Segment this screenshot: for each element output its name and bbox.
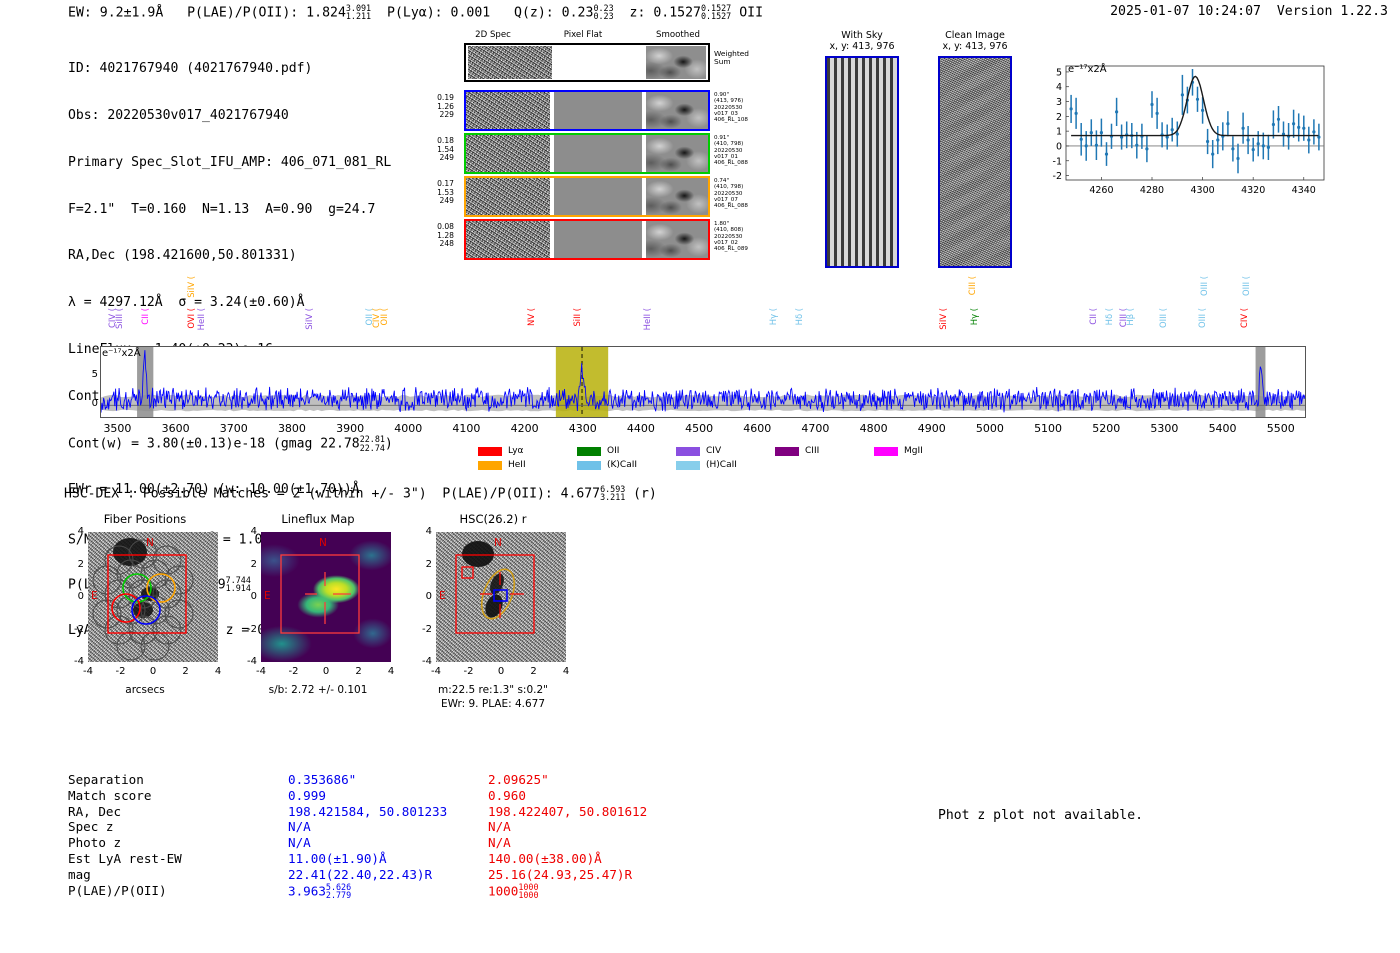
svg-text:3: 3 [1056, 97, 1062, 108]
ion-label: SiIV ( [938, 308, 948, 330]
spectrum-x-tick: 5300 [1139, 422, 1189, 435]
ion-label: CII ( [140, 308, 150, 325]
legend-label: Lyα [508, 446, 523, 456]
fiber-smoothed-image [646, 178, 708, 215]
ion-label: OIII ( [1241, 276, 1251, 296]
with-sky-xy: x, y: 413, 976 [812, 41, 912, 52]
spectrum-x-tick: 5400 [1198, 422, 1248, 435]
panel-y-tick: 4 [64, 526, 84, 537]
svg-text:0: 0 [1056, 141, 1062, 152]
match2-plae-errors: 10001000 [518, 883, 538, 900]
panel-y-tick: 0 [237, 591, 257, 602]
info-id: ID: 4021767940 (4021767940.pdf) [68, 61, 393, 77]
spectrum-x-tick: 4900 [907, 422, 957, 435]
ion-label: OIII ( [1158, 308, 1168, 328]
table-cell-match1: 198.421584, 50.801233 [288, 804, 447, 820]
table-cell-match2: 198.422407, 50.801612 [488, 804, 647, 820]
ion-label: NV ( [526, 308, 536, 326]
fiber-row-left-label: 0.17 1.53 249 [424, 180, 454, 206]
lineflux-map-overlay [261, 532, 391, 662]
panel-x-tick: -4 [78, 666, 98, 677]
ion-label: OVI ( [186, 308, 196, 329]
fiber-2dspec-image [466, 92, 550, 129]
table-row-label: P(LAE)/P(OII) [68, 883, 167, 899]
hsc-caption-line2: EWr: 9. PLAE: 4.677 [408, 698, 578, 710]
emission-line-fit-svg: -2-101234542604280430043204340 [1036, 60, 1330, 215]
fiber-row-right-label: 0.91" (410, 798) 20220530 v017_01 406_RL… [714, 135, 770, 166]
info-seeing-throughput: F=2.1" T=0.160 N=1.13 A=0.90 g=24.7 [68, 202, 393, 218]
hscdex-plae-errors: 6.5933.211 [600, 485, 625, 502]
panel-y-tick: -2 [237, 624, 257, 635]
legend-swatch [775, 447, 799, 456]
spectrum-x-tick: 5100 [1023, 422, 1073, 435]
panel-x-tick: 4 [381, 666, 401, 677]
fiber-row-right-label: 1.80" (410, 808) 20220530 v017_02 406_RL… [714, 221, 770, 252]
fiber-row-left-label: 0.18 1.54 249 [424, 137, 454, 163]
panel-y-tick: 4 [237, 526, 257, 537]
table-cell-match2: N/A [488, 819, 511, 835]
panel-x-tick: -2 [459, 666, 479, 677]
legend-label: MgII [904, 446, 923, 456]
match1-plae-errors: 5.6262.779 [326, 883, 351, 900]
table-cell-match1: 3.9635.6262.779 [288, 883, 351, 900]
legend-label: (K)CaII [607, 460, 637, 470]
legend-swatch [676, 447, 700, 456]
ion-label: HeII ( [196, 308, 206, 330]
ion-label: Hβ ( [1125, 308, 1135, 326]
fiber-smoothed-image [646, 135, 708, 172]
fiber-pixelflat-image [554, 135, 642, 172]
spec2d-title-2dspec: 2D Spec [458, 30, 528, 40]
panel-x-tick: 4 [556, 666, 576, 677]
header-qz-errors: 0.230.23 [593, 4, 613, 21]
spectrum-x-tick: 4300 [558, 422, 608, 435]
legend-swatch [577, 461, 601, 470]
table-cell-match1: 11.00(±1.90)Å [288, 851, 387, 867]
fiber-pixelflat-image [554, 178, 642, 215]
table-cell-match2: 25.16(24.93,25.47)R [488, 867, 632, 883]
panel-x-tick: -2 [284, 666, 304, 677]
fiber-positions-title: Fiber Positions [60, 512, 230, 526]
table-cell-match2: 140.00(±38.00)Å [488, 851, 602, 867]
header-plya-qz: P(Lyα): 0.001 Q(z): 0.23 [387, 6, 593, 21]
header-ew-plae: EW: 9.2±1.9Å P(LAE)/P(OII): 1.824 [68, 6, 346, 21]
weighted-sum-2dspec-image [468, 46, 552, 79]
panel-y-tick: 4 [412, 526, 432, 537]
legend-label: OII [607, 446, 619, 456]
elixer-report-page: EW: 9.2±1.9Å P(LAE)/P(OII): 1.8243.0911.… [0, 0, 1400, 953]
panel-y-tick: -2 [412, 624, 432, 635]
header-z-errors: 0.15270.1527 [701, 4, 731, 21]
svg-text:1: 1 [1056, 127, 1062, 138]
legend-swatch [478, 447, 502, 456]
ion-label: Hδ ( [794, 308, 804, 325]
ion-label: Hδ ( [1104, 308, 1114, 325]
hsc-image: N E [436, 532, 566, 662]
fiber-pixelflat-image [554, 92, 642, 129]
table-row-label: mag [68, 867, 91, 883]
header-plae-errors: 3.0911.211 [346, 4, 371, 21]
spectrum-x-tick: 5000 [965, 422, 1015, 435]
spectrum-trace-svg [101, 347, 1305, 417]
table-row-label: Est LyA rest-EW [68, 851, 182, 867]
legend-label: CIV [706, 446, 721, 456]
hsc-caption-line1: m:22.5 re:1.3" s:0.2" [408, 684, 578, 696]
panel-x-tick: -4 [426, 666, 446, 677]
ion-label: OIII ( [1199, 276, 1209, 296]
spectrum-x-tick: 3900 [325, 422, 375, 435]
ion-label: OIII ( [1197, 308, 1207, 328]
legend-label: (H)CaII [706, 460, 737, 470]
svg-text:-1: -1 [1053, 156, 1062, 167]
header-z-suffix: OII [739, 6, 763, 21]
weighted-sum-smoothed-image [646, 46, 706, 79]
hscdex-text: HSC-DEX : Possible Matches = 2 (within +… [64, 487, 600, 502]
header-timestamp-version: 2025-01-07 10:24:07 Version 1.22.3 [1110, 4, 1388, 19]
info-spec-slot: Primary Spec_Slot_IFU_AMP: 406_071_081_R… [68, 155, 393, 171]
fiber-smoothed-image [646, 92, 708, 129]
weighted-sum-pixelflat-image [556, 46, 642, 79]
clean-image-cutout [938, 56, 1012, 268]
lineflux-map-caption: s/b: 2.72 +/- 0.101 [233, 684, 403, 696]
ion-label: OII ( [379, 308, 389, 325]
weighted-sum-row [464, 43, 710, 82]
spec2d-panel-group: 2D Spec Pixel Flat Smoothed Weighted Sum… [420, 30, 760, 250]
spectrum-x-tick: 4700 [790, 422, 840, 435]
header-summary-line: EW: 9.2±1.9Å P(LAE)/P(OII): 1.8243.0911.… [68, 4, 763, 21]
hsc-compass-e: E [439, 590, 446, 602]
svg-text:4300: 4300 [1190, 185, 1214, 196]
with-sky-title: With Sky [812, 30, 912, 41]
table-cell-match1: N/A [288, 835, 311, 851]
panel-x-tick: -2 [111, 666, 131, 677]
clean-image-title: Clean Image [925, 30, 1025, 41]
clean-image-xy: x, y: 413, 976 [925, 41, 1025, 52]
fiber-positions-image: N E [88, 532, 218, 662]
table-cell-match2: 0.960 [488, 788, 526, 804]
fiber-2dspec-image [466, 221, 550, 258]
spec2d-title-pixelflat: Pixel Flat [548, 30, 618, 40]
legend-swatch [874, 447, 898, 456]
svg-text:4340: 4340 [1292, 185, 1316, 196]
panel-x-tick: 4 [208, 666, 228, 677]
lineflux-compass-e: E [264, 590, 271, 602]
table-cell-match1: 22.41(22.40,22.43)R [288, 867, 432, 883]
hscdex-filter: (r) [625, 487, 657, 502]
table-row-label: Match score [68, 788, 151, 804]
table-cell-match2: 100010001000 [488, 883, 539, 900]
table-cell-match1: 0.353686" [288, 772, 356, 788]
hscdex-match-summary: HSC-DEX : Possible Matches = 2 (within +… [64, 485, 657, 502]
fiber-row[interactable] [464, 90, 710, 131]
svg-text:4280: 4280 [1140, 185, 1164, 196]
fiber-row-right-label: 0.74" (410, 798) 20220530 v017_07 406_RL… [714, 178, 770, 209]
fiber-row-left-label: 0.08 1.28 248 [424, 223, 454, 249]
svg-text:4320: 4320 [1241, 185, 1265, 196]
spectrum-x-tick: 4100 [441, 422, 491, 435]
fiber-positions-overlay [88, 532, 218, 662]
panel-y-tick: 2 [412, 559, 432, 570]
with-sky-image [825, 56, 899, 268]
svg-text:2: 2 [1056, 112, 1062, 123]
svg-text:4: 4 [1056, 82, 1062, 93]
table-row-label: RA, Dec [68, 804, 121, 820]
table-cell-match2: 2.09625" [488, 772, 549, 788]
lineflux-compass-n: N [319, 537, 327, 549]
hsc-image-panel: HSC(26.2) r N E m:22.5 re:1.3" s:0.2" EW… [408, 512, 578, 702]
spectrum-y-tick: 0 [84, 398, 98, 409]
table-cell-match2: N/A [488, 835, 511, 851]
photz-note: Phot z plot not available. [938, 808, 1143, 823]
spectrum-x-tick: 4400 [616, 422, 666, 435]
spectrum-axes-box [100, 346, 1306, 418]
fiber-pixelflat-image [554, 221, 642, 258]
spec2d-title-smoothed: Smoothed [638, 30, 718, 40]
spectrum-x-tick: 4500 [674, 422, 724, 435]
ion-label: CII ( [1088, 308, 1098, 325]
legend-label: HeII [508, 460, 526, 470]
fiber-positions-panel: Fiber Positions [60, 512, 230, 702]
lineflux-map-title: Lineflux Map [233, 512, 403, 526]
spectrum-x-tick: 3600 [151, 422, 201, 435]
panel-y-tick: 2 [237, 559, 257, 570]
legend-swatch [676, 461, 700, 470]
emission-line-fit-plot: -2-101234542604280430043204340 e⁻¹⁷x2Å [1036, 60, 1330, 215]
fiber-row[interactable] [464, 219, 710, 260]
spectrum-y-tick: 5 [84, 369, 98, 380]
fiber-row[interactable] [464, 176, 710, 217]
full-spectrum-panel: CIV (SiIII (CII (SiIV (OVI (HeII (SiIV (… [84, 268, 1306, 473]
panel-x-tick: 0 [491, 666, 511, 677]
spectrum-x-tick: 4000 [383, 422, 433, 435]
spectrum-x-tick: 3500 [92, 422, 142, 435]
hsc-image-title: HSC(26.2) r [408, 512, 578, 526]
table-row-label: Photo z [68, 835, 121, 851]
panel-x-tick: -4 [251, 666, 271, 677]
spectrum-x-tick: 4800 [849, 422, 899, 435]
ion-label: Hγ ( [768, 308, 778, 325]
legend-label: CIII [805, 446, 819, 456]
panel-y-tick: 0 [412, 591, 432, 602]
panel-x-tick: 2 [176, 666, 196, 677]
fiber-compass-e: E [91, 590, 98, 602]
panel-x-tick: 2 [524, 666, 544, 677]
spectrum-x-tick: 4600 [732, 422, 782, 435]
svg-text:4260: 4260 [1089, 185, 1113, 196]
header-z: z: 0.1527 [630, 6, 701, 21]
fiber-2dspec-image [466, 135, 550, 172]
fiber-positions-xlabel: arcsecs [60, 684, 230, 696]
spectrum-x-tick: 5200 [1081, 422, 1131, 435]
ion-label: CIII ( [967, 276, 977, 295]
ion-label: SiIV ( [186, 276, 196, 298]
spectrum-x-tick: 5500 [1256, 422, 1306, 435]
legend-swatch [478, 461, 502, 470]
panel-x-tick: 0 [143, 666, 163, 677]
ion-label: SiIV ( [304, 308, 314, 330]
spectrum-x-tick: 4200 [500, 422, 550, 435]
info-radec: RA,Dec (198.421600,50.801331) [68, 248, 393, 264]
ion-label: HeII ( [642, 308, 652, 330]
svg-text:5: 5 [1056, 67, 1062, 78]
panel-y-tick: 2 [64, 559, 84, 570]
fiber-row-right-label: 0.90" (413, 976) 20220530 v017_03 406_RL… [714, 92, 770, 123]
ion-label: SiII ( [572, 308, 582, 327]
fit-plot-unit-annotation: e⁻¹⁷x2Å [1068, 64, 1107, 75]
lineflux-map-panel: Lineflux Map N E s/b: 2.72 +/- 0.101 -4-… [233, 512, 403, 702]
hsc-image-overlay [436, 532, 566, 662]
spectrum-x-tick: 3800 [267, 422, 317, 435]
spectrum-x-tick: 3700 [209, 422, 259, 435]
info-obs: Obs: 20220530v017_4021767940 [68, 108, 393, 124]
fiber-2dspec-image [466, 178, 550, 215]
fiber-smoothed-image [646, 221, 708, 258]
table-cell-match1: 0.999 [288, 788, 326, 804]
fiber-row-left-label: 0.19 1.26 229 [424, 94, 454, 120]
weighted-sum-label: Weighted Sum [714, 50, 764, 67]
fiber-row[interactable] [464, 133, 710, 174]
ion-label: Hγ ( [969, 308, 979, 325]
panel-y-tick: 0 [64, 591, 84, 602]
spectrum-unit-annotation: e⁻¹⁷x2Å [102, 348, 141, 359]
hsc-compass-n: N [494, 537, 502, 549]
fiber-compass-n: N [146, 537, 154, 549]
ion-label: CIV ( [1239, 308, 1249, 328]
panel-x-tick: 0 [316, 666, 336, 677]
table-row-label: Separation [68, 772, 144, 788]
lineflux-map-image: N E [261, 532, 391, 662]
panel-y-tick: -2 [64, 624, 84, 635]
table-row-label: Spec z [68, 819, 114, 835]
panel-x-tick: 2 [349, 666, 369, 677]
table-cell-match1: N/A [288, 819, 311, 835]
legend-swatch [577, 447, 601, 456]
svg-text:-2: -2 [1053, 171, 1062, 182]
ion-label: SiIII ( [114, 308, 124, 329]
